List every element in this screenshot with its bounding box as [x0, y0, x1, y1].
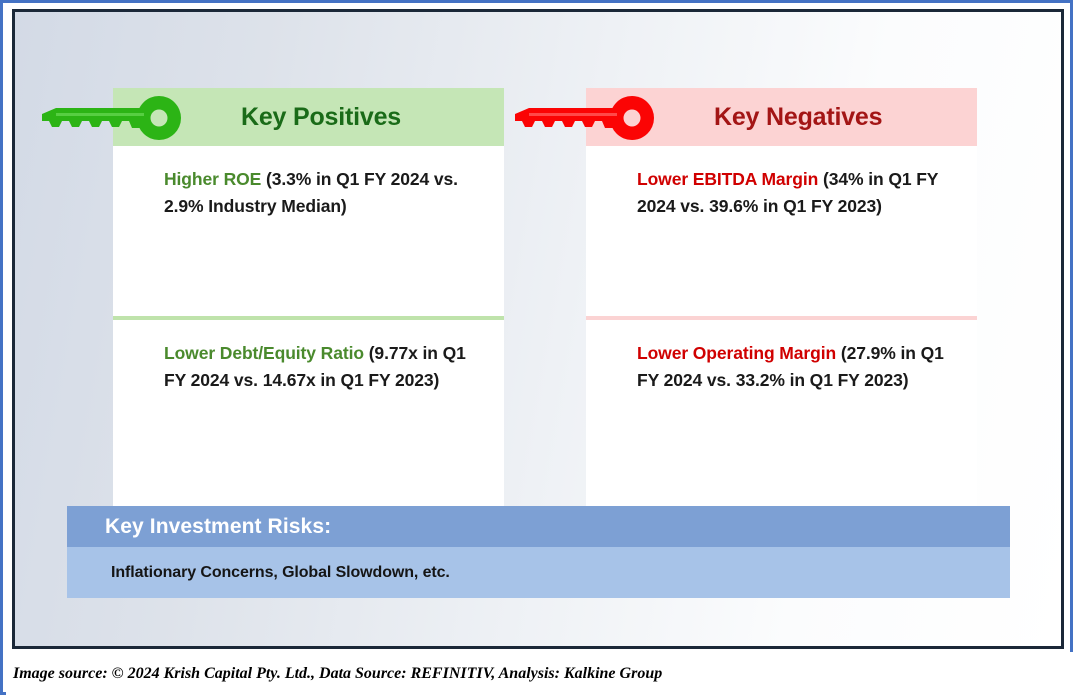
image-source-caption: Image source: © 2024 Krish Capital Pty. … [13, 665, 662, 683]
list-item: Lower EBITDA Margin (34% in Q1 FY 2024 v… [586, 146, 977, 316]
key-negatives-panel: Key Negatives Lower EBITDA Margin (34% i… [577, 88, 977, 514]
risks-text: Inflationary Concerns, Global Slowdown, … [111, 564, 450, 582]
risks-body: Inflationary Concerns, Global Slowdown, … [67, 547, 1010, 598]
key-negative-item-2: Lower Operating Margin (27.9% in Q1 FY 2… [637, 340, 947, 393]
key-investment-risks-banner: Key Investment Risks: Inflationary Conce… [67, 506, 1010, 598]
list-item: Lower Operating Margin (27.9% in Q1 FY 2… [586, 320, 977, 490]
key-positives-panel: Key Positives Higher ROE (3.3% in Q1 FY … [104, 88, 504, 514]
key-icon [32, 96, 188, 140]
item-lead: Lower Operating Margin [637, 343, 841, 363]
key-negatives-header: Key Negatives [586, 88, 977, 146]
footer-bar: Image source: © 2024 Krish Capital Pty. … [6, 652, 1073, 695]
key-positives-header: Key Positives [113, 88, 504, 146]
list-item: Lower Debt/Equity Ratio (9.77x in Q1 FY … [113, 320, 504, 490]
key-negative-item-1: Lower EBITDA Margin (34% in Q1 FY 2024 v… [637, 166, 947, 219]
key-positives-body: Higher ROE (3.3% in Q1 FY 2024 vs. 2.9% … [113, 146, 504, 514]
risks-title: Key Investment Risks: [105, 515, 331, 539]
key-negatives-body: Lower EBITDA Margin (34% in Q1 FY 2024 v… [586, 146, 977, 514]
slide-frame: Key Positives Higher ROE (3.3% in Q1 FY … [0, 0, 1073, 695]
item-lead: Higher ROE [164, 169, 266, 189]
key-positives-title: Key Positives [241, 103, 401, 132]
risks-header: Key Investment Risks: [67, 506, 1010, 547]
image-canvas: Key Positives Higher ROE (3.3% in Q1 FY … [12, 9, 1064, 649]
key-positive-item-2: Lower Debt/Equity Ratio (9.77x in Q1 FY … [164, 340, 474, 393]
item-lead: Lower Debt/Equity Ratio [164, 343, 369, 363]
key-positive-item-1: Higher ROE (3.3% in Q1 FY 2024 vs. 2.9% … [164, 166, 474, 219]
key-icon [505, 96, 661, 140]
item-lead: Lower EBITDA Margin [637, 169, 823, 189]
list-item: Higher ROE (3.3% in Q1 FY 2024 vs. 2.9% … [113, 146, 504, 316]
key-negatives-title: Key Negatives [714, 103, 882, 132]
